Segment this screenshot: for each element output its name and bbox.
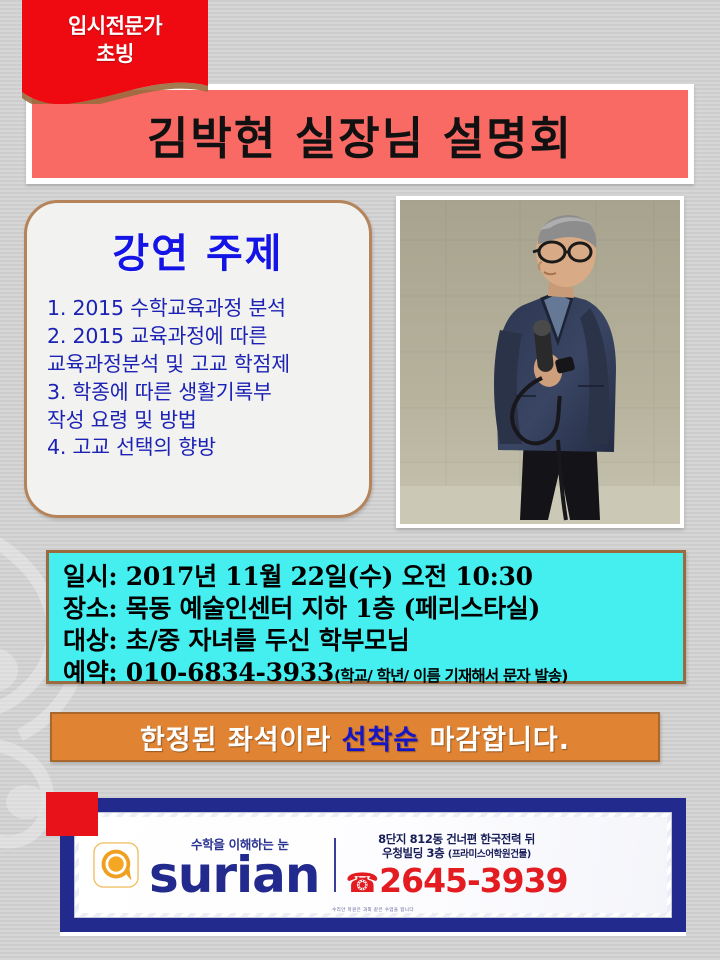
info-value-date: 2017년 11월 22일(수) 오전 10:30 bbox=[117, 562, 532, 591]
notice-text-before: 한정된 좌석이라 bbox=[140, 725, 342, 756]
footer-microtext: 수리안 학원은 과외 같은 수업을 합니다 bbox=[75, 907, 671, 913]
seat-limit-notice: 한정된 좌석이라 선착순 마감합니다. bbox=[50, 712, 660, 762]
info-row-audience: 대상: 초/중 자녀를 두신 학부모님 bbox=[63, 625, 673, 657]
list-item: 2. 2015 교육과정에 따른 bbox=[47, 323, 353, 351]
info-row-date: 일시: 2017년 11월 22일(수) 오전 10:30 bbox=[63, 561, 673, 593]
info-label-date: 일시: bbox=[63, 562, 117, 591]
info-label-audience: 대상: bbox=[63, 626, 117, 655]
info-label-reservation: 예약: bbox=[63, 658, 117, 687]
info-reservation-note: (학교/ 학년/ 이름 기재해서 문자 발송) bbox=[334, 667, 568, 685]
lecture-topic-list: 1. 2015 수학교육과정 분석 2. 2015 교육과정에 따른 교육과정분… bbox=[43, 295, 353, 462]
logo-card-inner: 수학을 이해하는 눈 surian 8단지 812동 건너편 한국전력 뒤 우청… bbox=[79, 817, 667, 913]
footer-phone[interactable]: ☎2645-3939 bbox=[346, 864, 568, 899]
footer-frame: 수학을 이해하는 눈 surian 8단지 812동 건너편 한국전력 뒤 우청… bbox=[60, 798, 686, 932]
lecture-topic-box: 강연 주제 1. 2015 수학교육과정 분석 2. 2015 교육과정에 따른… bbox=[24, 200, 372, 518]
info-value-audience: 초/중 자녀를 두신 학부모님 bbox=[117, 626, 409, 655]
list-item: 작성 요령 및 방법 bbox=[47, 407, 353, 435]
footer-address-line-1: 8단지 812동 건너편 한국전력 뒤 bbox=[378, 832, 535, 846]
footer-accent-block bbox=[46, 792, 98, 836]
footer-contact: 8단지 812동 건너편 한국전력 뒤 우청빌딩 3층 (프라미스어학원건물) … bbox=[346, 832, 578, 899]
lecture-topic-heading: 강연 주제 bbox=[43, 221, 353, 279]
footer-logo-bar: 수학을 이해하는 눈 surian 8단지 812동 건너편 한국전력 뒤 우청… bbox=[46, 792, 686, 932]
footer-address-line-2: 우청빌딩 3층 bbox=[382, 846, 448, 860]
footer-address-building: (프라미스어학원건물) bbox=[448, 849, 531, 860]
seat-limit-notice-text: 한정된 좌석이라 선착순 마감합니다. bbox=[140, 718, 570, 757]
info-value-location: 목동 예술인센터 지하 1층 (페리스타실) bbox=[117, 594, 540, 623]
invite-ribbon-text: 입시전문가 초빙 bbox=[22, 0, 208, 104]
info-row-reservation: 예약: 010-6834-3933(학교/ 학년/ 이름 기재해서 문자 발송) bbox=[63, 657, 673, 689]
info-row-location: 장소: 목동 예술인센터 지하 1층 (페리스타실) bbox=[63, 593, 673, 625]
page-title: 김박현 실장님 설명회 bbox=[147, 102, 573, 167]
info-label-location: 장소: bbox=[63, 594, 117, 623]
list-item: 교육과정분석 및 고교 학점제 bbox=[47, 351, 353, 379]
footer-address: 8단지 812동 건너편 한국전력 뒤 우청빌딩 3층 (프라미스어학원건물) bbox=[346, 832, 568, 862]
notice-text-after: 마감합니다. bbox=[419, 725, 570, 756]
ribbon-line-1: 입시전문가 bbox=[22, 13, 208, 41]
ribbon-line-2: 초빙 bbox=[22, 41, 208, 69]
speaker-photo bbox=[400, 200, 680, 524]
list-item: 1. 2015 수학교육과정 분석 bbox=[47, 295, 353, 323]
surian-wordmark: surian bbox=[149, 854, 320, 897]
notice-text-highlight: 선착순 bbox=[342, 725, 420, 756]
poster-root: 입시전문가 초빙 김박현 실장님 설명회 강연 주제 1. 2015 수학교육과… bbox=[0, 0, 720, 960]
invite-ribbon: 입시전문가 초빙 bbox=[22, 0, 208, 104]
event-info-box: 일시: 2017년 11월 22일(수) 오전 10:30 장소: 목동 예술인… bbox=[46, 550, 686, 684]
list-item: 3. 학종에 따른 생활기록부 bbox=[47, 379, 353, 407]
speaker-photo-frame bbox=[396, 196, 684, 528]
surian-wordmark-group: 수학을 이해하는 눈 surian bbox=[149, 834, 320, 897]
info-value-reservation-phone[interactable]: 010-6834-3933 bbox=[117, 658, 334, 687]
logo-card: 수학을 이해하는 눈 surian 8단지 812동 건너편 한국전력 뒤 우청… bbox=[74, 812, 672, 918]
logo-divider bbox=[334, 838, 336, 892]
footer-phone-number[interactable]: 2645-3939 bbox=[379, 861, 567, 900]
surian-logo-icon bbox=[93, 842, 139, 888]
telephone-icon: ☎ bbox=[346, 868, 379, 899]
list-item: 4. 고교 선택의 향방 bbox=[47, 434, 353, 462]
footer-baseline bbox=[60, 932, 686, 936]
